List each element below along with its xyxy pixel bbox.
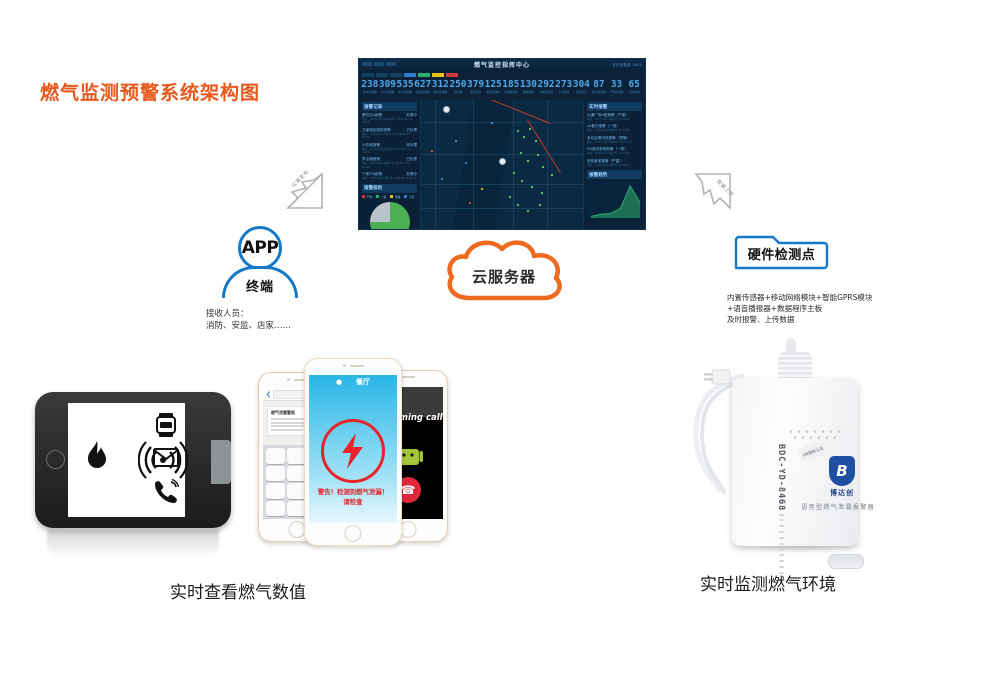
kpi-value: 273 xyxy=(555,80,573,90)
item-title: 小吃城报警 xyxy=(362,143,380,148)
hardware-note-line1: 内置传感器+移动网络模块+智能GPRS模块 xyxy=(727,292,872,303)
hardware-note-line3: 及时报警、上传数据 xyxy=(727,314,872,325)
caption-right: 实时监测燃气环境 xyxy=(700,570,836,595)
envelope-icon xyxy=(153,448,179,471)
item-sub: 地址：XX市XX区XX路66号 10:22:03 xyxy=(587,141,642,144)
terminal-note-line1: 接收人员： xyxy=(206,308,291,320)
trend-chart-header: 报警趋势 xyxy=(587,170,642,179)
list-item[interactable]: 西苑食堂报警（严重）地址：XX市XX区XX路9号 09:58:17 xyxy=(587,159,642,167)
phone-home-button[interactable] xyxy=(400,521,417,538)
legend-header: 报警级别 xyxy=(362,184,417,193)
kpi-label: 今日处理数 xyxy=(379,90,397,94)
page-title: 燃气监测预警系统架构图 xyxy=(40,78,260,105)
item-sub: 地址：XX市XX区XX路8号 10:30:55 xyxy=(587,129,642,132)
alarm-statusbar: ● 餐厅 xyxy=(309,375,397,388)
kpi-label: 报警处理中 xyxy=(484,90,502,94)
white-phone-group: ❮ 燃气泄露警报 xyxy=(258,358,448,544)
kpi-label: 离线设备数 xyxy=(432,90,450,94)
kpi-label: 安装总数 xyxy=(467,90,485,94)
hardware-tag-label: 硬件检测点 xyxy=(733,244,830,263)
kpi-item: 309今日处理数 xyxy=(379,80,397,94)
city-map[interactable] xyxy=(421,100,583,229)
item-sub: 地址：XX市XX区XX路55号 2018-05-14 09:40 xyxy=(362,162,417,169)
alarm-records-panel: 报警记录 餐饮店a报警处理中地址：XX市XX区XX路128号 2018-05-1… xyxy=(359,100,421,229)
kpi-label: 实时报警数 xyxy=(361,90,379,94)
item-sub: 地址：XX市XX区XX路128号 2018-05-14 10:35 xyxy=(362,118,417,125)
speaker-grille xyxy=(828,554,864,569)
terminal-body: 终端 xyxy=(222,266,298,298)
flame-icon xyxy=(82,440,112,480)
phone-alert-channels xyxy=(152,409,179,511)
kpi-label: 巡检数 xyxy=(449,90,467,94)
pie-legend: 严重 一般 预警 正常 xyxy=(362,195,417,199)
shield-icon: B xyxy=(829,456,855,486)
list-item[interactable]: 老北京涮肉馆报警（预警）地址：XX市XX区XX路66号 10:22:03 xyxy=(587,136,642,144)
kpi-value: 33 xyxy=(608,80,626,90)
list-item[interactable]: 小吃城报警未处理地址：XX市XX区XX大道9号 2018-05-14 09:58 xyxy=(362,143,417,155)
kpi-item: 304年度累计 xyxy=(573,80,591,94)
terminal-note: 接收人员： 消防、安监、店家…… xyxy=(206,308,291,332)
kpi-value: 238 xyxy=(361,80,379,90)
kpi-label: 严重报警数 xyxy=(608,90,626,94)
app-terminal-node[interactable]: APP 终端 xyxy=(222,226,298,298)
dashboard-header: 燃气监控指挥中心 在线设备数 3844 xyxy=(359,59,645,70)
cloud-server-node[interactable]: 云服务器 xyxy=(440,236,568,306)
map-marker[interactable] xyxy=(443,106,450,113)
panel-header: 实时报警 xyxy=(587,102,642,111)
kpi-label: 待处理报警 xyxy=(502,90,520,94)
dashboard-screen: 燃气监控指挥中心 在线设备数 3844 238实时报警数 309今日处理数 53… xyxy=(358,58,646,230)
terminal-note-line2: 消防、安监、店家…… xyxy=(206,320,291,332)
phone-icon-row xyxy=(68,403,185,517)
terminal-label: 终端 xyxy=(246,276,274,298)
ringing-phone-icon xyxy=(152,479,179,507)
kpi-item: 130维保数量 xyxy=(520,80,538,94)
kpi-label: 已排除数 xyxy=(625,90,643,94)
dashboard-body: 报警记录 餐饮店a报警处理中地址：XX市XX区XX路128号 2018-05-1… xyxy=(359,100,645,229)
app-badge: APP xyxy=(238,226,282,270)
list-item[interactable]: xx餐厅报警（一般）地址：XX市XX区XX路8号 10:30:55 xyxy=(587,124,642,132)
hardware-node-tag[interactable]: 硬件检测点 xyxy=(733,235,830,271)
power-plug xyxy=(704,366,734,388)
kpi-value: 309 xyxy=(379,80,397,90)
arrow-device-to-cloud: 数据上传 xyxy=(690,168,736,214)
legend-entry: 预警 xyxy=(390,195,400,199)
item-meta: 未处理 xyxy=(406,143,417,148)
dashboard-chips xyxy=(362,73,458,77)
kpi-item: 627在线设备数 xyxy=(414,80,432,94)
hardware-note-line2: +语音播报器+数据程序主板 xyxy=(727,303,872,314)
kpi-value: 250 xyxy=(449,80,467,90)
device-product-name: 语音型燃气泄漏报警器 xyxy=(784,502,892,511)
realtime-alarm-panel: 实时报警 九通广场A座报警（严重）地址：XX市XX区XX路1号 10:36:12… xyxy=(583,100,645,229)
cloud-label: 云服务器 xyxy=(440,266,568,287)
item-title: 西苑食堂报警（严重） xyxy=(587,159,623,164)
item-sub: 地址：XX市XX区XX路1号 10:36:12 xyxy=(587,118,642,121)
kpi-item: 250巡检数 xyxy=(449,80,467,94)
kpi-item: 292设备故障数 xyxy=(537,80,555,94)
alarm-phone[interactable]: ● 餐厅 警告！检测到燃气泄漏！ 请检查 xyxy=(304,358,402,546)
app-label: APP xyxy=(242,238,279,258)
location-pin-icon: ● xyxy=(336,378,342,386)
item-sub: 地址：XX市XX区XX路9号 09:58:17 xyxy=(587,164,642,167)
gas-leak-alert-icon xyxy=(321,419,385,483)
arrow-cloud-to-app: 云端发布 xyxy=(282,168,328,214)
kpi-value: 130 xyxy=(520,80,538,90)
list-item[interactable]: 个体户b报警处理中地址：XX市XX区XX巷7号 2018-05-14 09:12 xyxy=(362,172,417,180)
gas-detector-device[interactable]: BDC-YD-8468 GB国标认证 B 博达创 语音型燃气泄漏报警器 xyxy=(690,338,910,550)
item-sub: 地址：XX市XX区XX街2号 10:10:41 xyxy=(587,152,642,155)
list-item[interactable]: 九通广场A座报警（严重）地址：XX市XX区XX路1号 10:36:12 xyxy=(587,113,642,121)
legend-entry: 一般 xyxy=(376,195,386,199)
dashboard-title: 燃气监控指挥中心 xyxy=(359,60,645,69)
kpi-label: 设备故障数 xyxy=(537,90,555,94)
kpi-item: 312离线设备数 xyxy=(432,80,450,94)
alarm-pie-chart xyxy=(370,202,410,230)
black-phone[interactable] xyxy=(35,392,231,528)
kpi-label: 年度累计 xyxy=(573,90,591,94)
kpi-value: 185 xyxy=(502,80,520,90)
phone-side-button[interactable] xyxy=(211,440,231,484)
kpi-label: 超标报警数 xyxy=(590,90,608,94)
panel-header: 报警记录 xyxy=(362,102,417,111)
legend-entry: 正常 xyxy=(404,195,414,199)
kpi-label: 今日新增 xyxy=(555,90,573,94)
kpi-item: 33严重报警数 xyxy=(608,80,626,94)
legend-label: 一般 xyxy=(381,195,387,199)
kpi-value: 535 xyxy=(396,80,414,90)
kpi-label: 累计报警数 xyxy=(396,90,414,94)
phone-home-button[interactable] xyxy=(289,521,306,538)
phone-earpiece xyxy=(305,364,401,367)
item-sub: 地址：XX市XX区XX街22号 2018-05-14 10:21 xyxy=(362,133,417,140)
kpi-item: 125报警处理中 xyxy=(484,80,502,94)
list-item[interactable]: 早点铺报警已处理地址：XX市XX区XX路55号 2018-05-14 09:40 xyxy=(362,157,417,169)
kpi-item: 273今日新增 xyxy=(555,80,573,94)
dashboard-meta: 在线设备数 3844 xyxy=(612,62,642,67)
legend-label: 严重 xyxy=(367,195,373,199)
kpi-value: 304 xyxy=(573,80,591,90)
phone-home-button[interactable] xyxy=(345,525,362,542)
alarm-warning-text: 警告！检测到燃气泄漏！ 请检查 xyxy=(309,487,397,507)
logo-letter: B xyxy=(836,462,847,480)
map-river xyxy=(453,100,516,229)
list-item[interactable]: 餐饮店a报警处理中地址：XX市XX区XX路128号 2018-05-14 10:… xyxy=(362,113,417,125)
alarm-location: 餐厅 xyxy=(356,377,370,387)
kpi-value: 125 xyxy=(484,80,502,90)
item-sub: 地址：XX市XX区XX大道9号 2018-05-14 09:58 xyxy=(362,148,417,155)
kpi-row: 238实时报警数 309今日处理数 535累计报警数 627在线设备数 312离… xyxy=(361,80,643,99)
alarm-trend-chart xyxy=(587,181,642,219)
list-item[interactable]: XX酒店厨房报警（一般）地址：XX市XX区XX街2号 10:10:41 xyxy=(587,147,642,155)
alarm-screen: ● 餐厅 警告！检测到燃气泄漏！ 请检查 xyxy=(309,375,397,523)
alarm-warning-line2: 请检查 xyxy=(309,497,397,507)
kpi-value: 292 xyxy=(537,80,555,90)
kpi-item: 185待处理报警 xyxy=(502,80,520,94)
kpi-value: 65 xyxy=(625,80,643,90)
legend-entry: 严重 xyxy=(362,195,372,199)
diagram-canvas: 燃气监测预警系统架构图 燃气监控指挥中心 在线设备数 3844 238实时报警数… xyxy=(0,0,1000,678)
kpi-value: 87 xyxy=(590,80,608,90)
chevron-left-icon[interactable]: ❮ xyxy=(266,391,271,398)
phone-reflection xyxy=(47,530,219,558)
map-marker[interactable] xyxy=(499,158,506,165)
alarm-warning-line1: 警告！检测到燃气泄漏！ xyxy=(309,487,397,497)
kpi-value: 627 xyxy=(414,80,432,90)
kpi-label: 在线设备数 xyxy=(414,90,432,94)
brand-logo: B 博达创 xyxy=(820,456,864,498)
list-item[interactable]: 万豪酒店厨房报警已处理地址：XX市XX区XX街22号 2018-05-14 10… xyxy=(362,128,417,140)
kpi-item: 65已排除数 xyxy=(625,80,643,94)
hardware-note: 内置传感器+移动网络模块+智能GPRS模块 +语音播报器+数据程序主板 及时报警… xyxy=(727,292,872,325)
device-body: BDC-YD-8468 GB国标认证 B 博达创 语音型燃气泄漏报警器 xyxy=(732,378,858,546)
caption-left: 实时查看燃气数值 xyxy=(170,578,306,603)
item-sub: 地址：XX市XX区XX巷7号 2018-05-14 09:12 xyxy=(362,177,417,180)
legend-label: 正常 xyxy=(409,195,415,199)
kpi-item: 238实时报警数 xyxy=(361,80,379,94)
brand-name: 博达创 xyxy=(820,488,864,498)
kpi-item: 379安装总数 xyxy=(467,80,485,94)
kpi-value: 312 xyxy=(432,80,450,90)
kpi-item: 535累计报警数 xyxy=(396,80,414,94)
kpi-value: 379 xyxy=(467,80,485,90)
phone-home-button[interactable] xyxy=(46,450,65,469)
smartwatch-app-icon xyxy=(155,413,177,441)
kpi-label: 维保数量 xyxy=(520,90,538,94)
kpi-item: 87超标报警数 xyxy=(590,80,608,94)
legend-label: 预警 xyxy=(395,195,401,199)
